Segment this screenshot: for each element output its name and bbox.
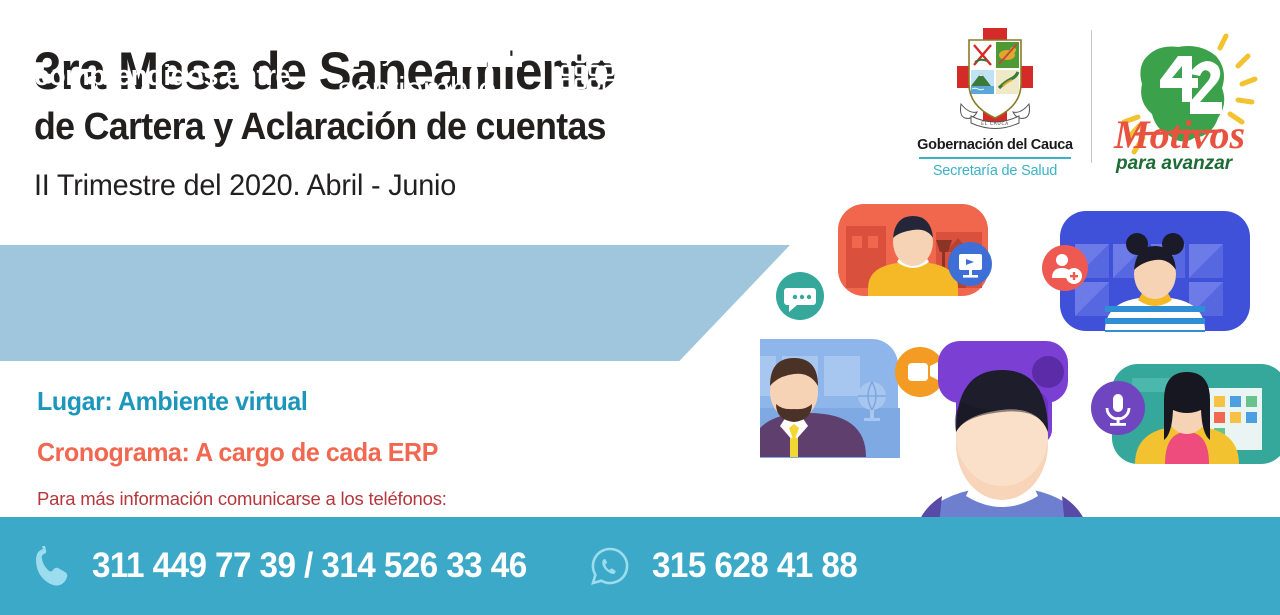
- whatsapp-number: 315 628 41 88: [652, 546, 857, 586]
- whatsapp-contact[interactable]: 315 628 41 88: [550, 546, 868, 586]
- month-label: septiembre: [338, 71, 496, 107]
- whatsapp-icon: [590, 546, 630, 586]
- microphone-icon: [1091, 381, 1145, 435]
- event-banner: 3ra Mesa de Saneamiento de Cartera y Acl…: [0, 0, 1280, 615]
- info-block: Lugar: Ambiente virtual Cronograma: A ca…: [37, 386, 455, 510]
- video-camera-icon: [895, 347, 945, 397]
- date-band-label-line1: Los días: [34, 22, 290, 58]
- place-label: Lugar: Ambiente virtual: [37, 386, 438, 417]
- phone-contact[interactable]: 311 449 77 39 / 314 526 33 46: [0, 546, 550, 586]
- date-band-label-line2: comprendidos entre: [34, 58, 290, 94]
- date-band-label: Los días comprendidos entre: [34, 22, 304, 94]
- participant-card-lightblue: [760, 339, 900, 458]
- schedule-label: Cronograma: A cargo de cada ERP: [37, 437, 438, 468]
- day-connector: y el: [382, 36, 429, 66]
- svg-text:para avanzar: para avanzar: [1115, 153, 1234, 174]
- date-numbers: 7 y el 11 septiembre: [338, 3, 534, 113]
- phone-icon: [34, 546, 70, 586]
- logo-group: EL CAUCA Gobernación del Cauca Secretarí…: [909, 24, 1258, 181]
- more-info-label: Para más información comunicarse a los t…: [37, 488, 455, 510]
- date-band: [0, 245, 790, 361]
- phone-numbers: 311 449 77 39 / 314 526 33 46: [92, 546, 527, 586]
- day-first: 7: [338, 5, 377, 79]
- day-second: 11: [448, 5, 522, 79]
- campaign-logo: Motivos para avanzar: [1108, 24, 1258, 181]
- calendar-icon: [548, 17, 626, 99]
- logo-divider-rule: [919, 157, 1071, 159]
- participant-card-blue: [1060, 211, 1250, 332]
- period-label: II Trimestre del 2020. Abril - Junio: [34, 169, 725, 203]
- date-band-content: Los días comprendidos entre 7 y el 11 se…: [34, 0, 626, 116]
- svg-text:Motivos: Motivos: [1113, 112, 1245, 157]
- svg-text:EL CAUCA: EL CAUCA: [981, 121, 1009, 127]
- add-person-icon: [1042, 245, 1088, 291]
- vertical-divider: [1091, 30, 1092, 163]
- government-department: Secretaría de Salud: [933, 163, 1057, 179]
- chat-bubble-icon: [776, 272, 824, 320]
- government-logo: EL CAUCA Gobernación del Cauca Secretarí…: [909, 24, 1081, 179]
- presentation-icon: [948, 242, 992, 286]
- contact-bar: 311 449 77 39 / 314 526 33 46 315 628 41…: [0, 517, 1280, 615]
- government-name: Gobernación del Cauca: [917, 137, 1073, 153]
- cauca-coat-of-arms-icon: EL CAUCA: [953, 26, 1037, 134]
